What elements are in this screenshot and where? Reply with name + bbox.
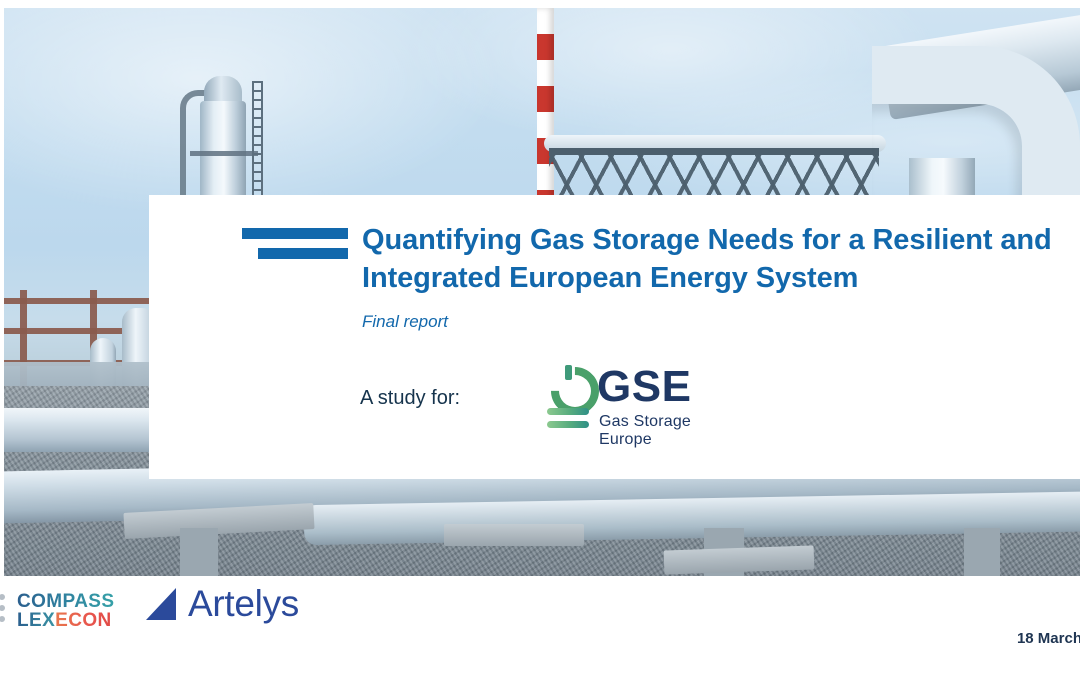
compass-wordmark: COMPASS — [17, 592, 114, 611]
pipe-support-1 — [180, 528, 218, 576]
gse-wave-1 — [547, 408, 589, 415]
gse-stem-shape — [565, 365, 572, 380]
gse-wave-2 — [547, 421, 589, 428]
dot-1 — [0, 594, 5, 600]
gse-logo: GSE Gas Storage Europe — [545, 365, 735, 437]
pipe-support-3 — [964, 528, 1000, 576]
lexecon-wordmark: LEXECON — [17, 611, 112, 630]
pipe-saddle-2 — [444, 524, 584, 546]
equals-bars-icon — [242, 228, 348, 260]
artelys-wordmark: Artelys — [188, 583, 299, 626]
gse-wordmark: GSE — [597, 365, 691, 409]
study-for-label: A study for: — [360, 387, 460, 410]
compass-lexecon-dots-icon — [0, 594, 9, 624]
equals-bar-top — [242, 228, 348, 239]
gse-tagline: Gas Storage Europe — [599, 413, 735, 449]
econ-wordmark-part: ECON — [55, 610, 112, 631]
slide-date: 18 March — [1017, 630, 1080, 647]
page-subtitle: Final report — [362, 312, 448, 332]
compass-lexecon-logo: COMPASS LEXECON — [0, 586, 140, 630]
gse-storage-icon — [545, 367, 591, 435]
equals-bar-bottom — [258, 248, 348, 259]
artelys-triangle-icon — [146, 588, 176, 620]
report-cover-slide: Quantifying Gas Storage Needs for a Resi… — [0, 0, 1080, 675]
dot-3 — [0, 616, 5, 622]
page-title: Quantifying Gas Storage Needs for a Resi… — [362, 221, 1062, 298]
slide-footer: COMPASS LEXECON Artelys 18 March — [0, 576, 1080, 675]
lex-wordmark-part: LEX — [17, 610, 55, 631]
dot-2 — [0, 605, 5, 611]
title-card: Quantifying Gas Storage Needs for a Resi… — [149, 195, 1080, 479]
tower-platform-1 — [190, 151, 258, 156]
